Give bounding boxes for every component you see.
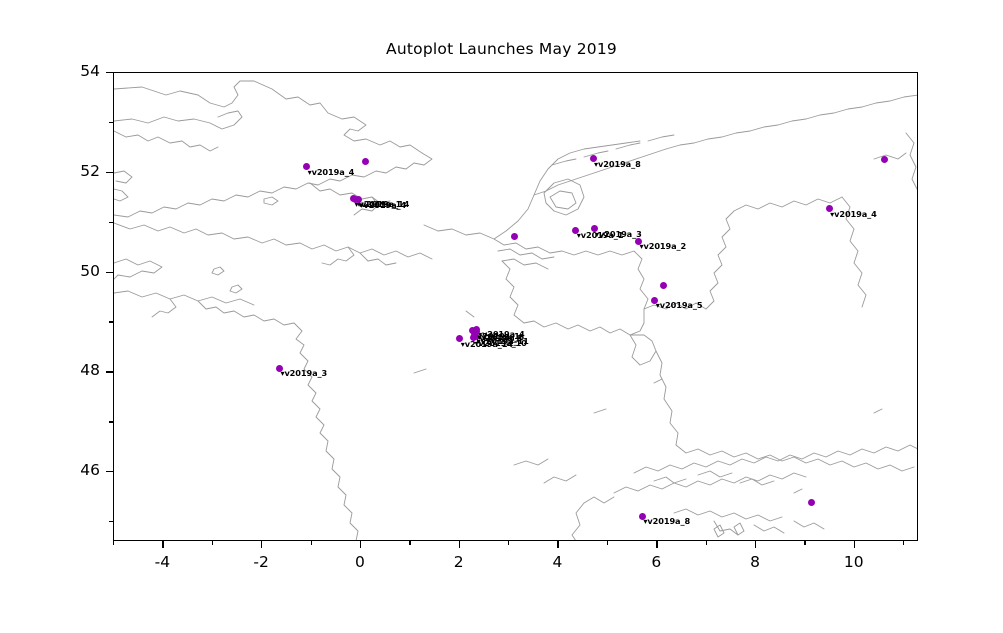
axis-tick <box>106 471 113 472</box>
data-point-label: ▾v2019a_4 <box>359 201 406 209</box>
axis-tick <box>656 541 657 548</box>
axis-tick <box>261 541 262 548</box>
data-point-label: ▾v2019a_4 <box>308 168 355 176</box>
axis-tick <box>113 541 114 545</box>
data-point-label: ▾v2019a_2 <box>639 242 686 250</box>
axis-tick <box>409 541 410 545</box>
matplotlib-figure: Autoplot Launches May 2019 <box>0 0 1003 633</box>
data-point-label: ▾v2019a_4 <box>830 210 877 218</box>
y-tick-label: 48 <box>40 361 100 379</box>
axis-tick <box>508 541 509 545</box>
axis-tick <box>109 222 113 223</box>
y-tick-label: 54 <box>40 62 100 80</box>
data-point-label: ▾v2019a_8 <box>643 517 690 525</box>
x-tick-label: 8 <box>725 553 785 571</box>
axis-tick <box>459 541 460 548</box>
x-tick-label: 0 <box>330 553 390 571</box>
axis-tick <box>106 371 113 372</box>
data-point-label: ▾v2019a_3 <box>595 230 642 238</box>
y-tick-label: 52 <box>40 162 100 180</box>
map-plot-area[interactable]: ▾v2019a_4▾v2019a_1▾v2019a_14▾v2019a_4▾v2… <box>113 72 918 541</box>
axis-tick <box>109 321 113 322</box>
axis-tick <box>106 272 113 273</box>
x-tick-label: 4 <box>527 553 587 571</box>
axis-tick <box>903 541 904 545</box>
data-point-label: ▾v2019a_5 <box>656 301 703 309</box>
data-point-marker[interactable] <box>511 233 518 240</box>
basemap-coastlines <box>114 73 918 541</box>
axis-tick <box>706 541 707 545</box>
axis-tick <box>109 122 113 123</box>
data-point-marker[interactable] <box>808 499 815 506</box>
axis-tick <box>106 72 113 73</box>
axis-tick <box>854 541 855 548</box>
x-tick-label: 10 <box>824 553 884 571</box>
axis-tick <box>109 521 113 522</box>
x-tick-label: -4 <box>132 553 192 571</box>
y-tick-label: 50 <box>40 262 100 280</box>
data-point-label: ▾v2019a_6 <box>477 333 524 341</box>
axis-tick <box>109 421 113 422</box>
page-title: Autoplot Launches May 2019 <box>0 40 1003 58</box>
axis-tick <box>311 541 312 545</box>
y-tick-label: 46 <box>40 461 100 479</box>
x-tick-label: 6 <box>626 553 686 571</box>
axis-tick <box>755 541 756 548</box>
axis-tick <box>557 541 558 548</box>
data-point-label: ▾v2019a_3 <box>280 369 327 377</box>
axis-tick <box>804 541 805 545</box>
axis-tick <box>360 541 361 548</box>
axis-tick <box>162 541 163 548</box>
data-point-label: ▾v2019a_8 <box>594 160 641 168</box>
axis-tick <box>212 541 213 545</box>
axis-tick <box>106 172 113 173</box>
x-tick-label: -2 <box>231 553 291 571</box>
data-point-marker[interactable] <box>660 282 667 289</box>
axis-tick <box>607 541 608 545</box>
x-tick-label: 2 <box>429 553 489 571</box>
